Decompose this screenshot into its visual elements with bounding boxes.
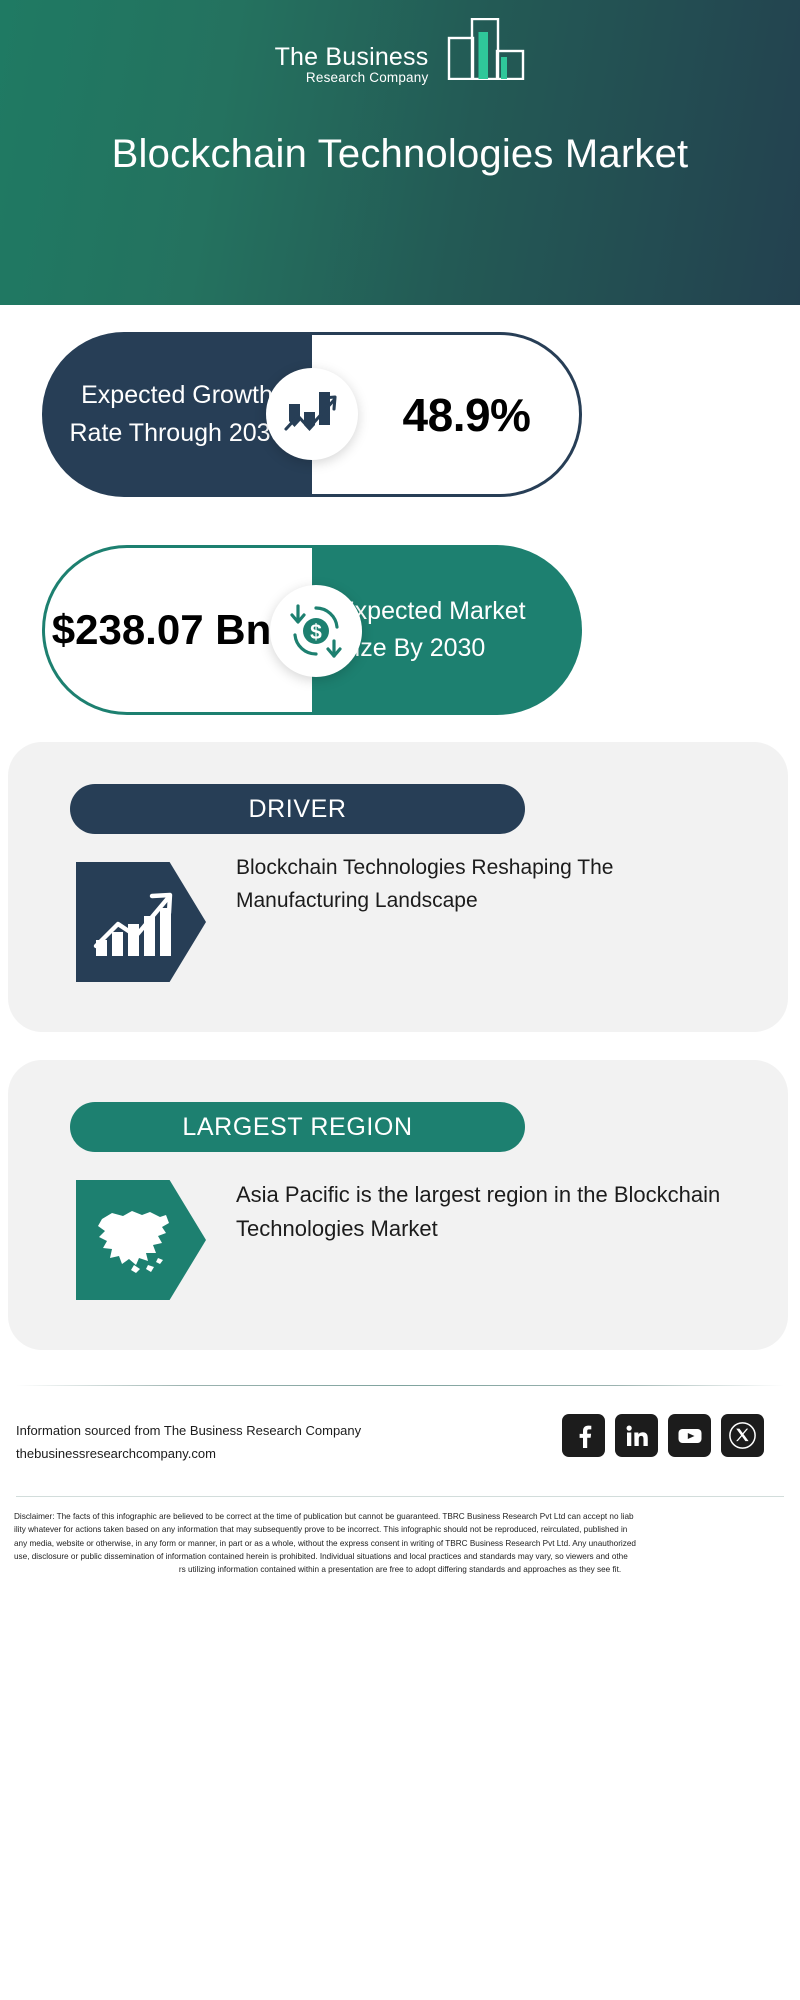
- page-title: Blockchain Technologies Market: [60, 128, 740, 181]
- bar-chart-logo-mark: [433, 18, 525, 85]
- disclaimer-line-4: use, disclosure or public dissemination …: [14, 1550, 786, 1563]
- youtube-icon[interactable]: [668, 1414, 711, 1457]
- footer-source-line-1: Information sourced from The Business Re…: [16, 1420, 361, 1443]
- facebook-icon[interactable]: [562, 1414, 605, 1457]
- header-banner: The Business Research Company Blockchain…: [0, 0, 800, 305]
- disclaimer-line-1: Disclaimer: The facts of this infographi…: [14, 1510, 786, 1523]
- dollar-exchange-icon: $: [270, 585, 362, 677]
- disclaimer-line-2: ility whatever for actions taken based o…: [14, 1523, 786, 1536]
- growth-chart-arrow-icon: [266, 368, 358, 460]
- disclaimer-line-5: rs utilizing information contained withi…: [14, 1563, 786, 1576]
- x-twitter-icon[interactable]: [721, 1414, 764, 1457]
- logo-line-2: Research Company: [275, 71, 429, 85]
- driver-badge: DRIVER: [70, 784, 525, 834]
- logo-text: The Business Research Company: [275, 45, 429, 87]
- largest-region-badge: LARGEST REGION: [70, 1102, 525, 1152]
- bar-chart-growth-arrow-icon: [76, 862, 206, 982]
- infographic-page: The Business Research Company Blockchain…: [0, 0, 800, 2000]
- asia-map-icon: [76, 1180, 206, 1300]
- linkedin-icon[interactable]: [615, 1414, 658, 1457]
- disclaimer-divider: [16, 1496, 784, 1497]
- stat-card-market-size: $238.07 Bn Expected Market Size By 2030 …: [42, 545, 582, 715]
- footer-divider: [16, 1385, 784, 1386]
- largest-region-text: Asia Pacific is the largest region in th…: [236, 1178, 734, 1246]
- stat-marketsize-value: $238.07 Bn: [52, 603, 305, 657]
- disclaimer-text: Disclaimer: The facts of this infographi…: [14, 1510, 786, 1576]
- stat-card-growth-rate: Expected Growth Rate Through 2030 48.9%: [42, 332, 582, 497]
- driver-text: Blockchain Technologies Reshaping The Ma…: [236, 852, 734, 917]
- footer-source: Information sourced from The Business Re…: [16, 1420, 361, 1466]
- footer-website-link[interactable]: thebusinessresearchcompany.com: [16, 1443, 361, 1466]
- stat-growth-value: 48.9%: [361, 388, 531, 442]
- svg-text:$: $: [310, 621, 322, 644]
- social-links: [562, 1414, 764, 1457]
- disclaimer-line-3: any media, website or otherwise, in any …: [14, 1537, 786, 1550]
- largest-region-panel: LARGEST REGION Asia Pacific is the large…: [8, 1060, 788, 1350]
- footer: Information sourced from The Business Re…: [16, 1414, 784, 1488]
- driver-panel: DRIVER Blockchain Technologies Reshaping…: [8, 742, 788, 1032]
- company-logo: The Business Research Company: [0, 18, 800, 86]
- logo-line-1: The Business: [275, 45, 429, 70]
